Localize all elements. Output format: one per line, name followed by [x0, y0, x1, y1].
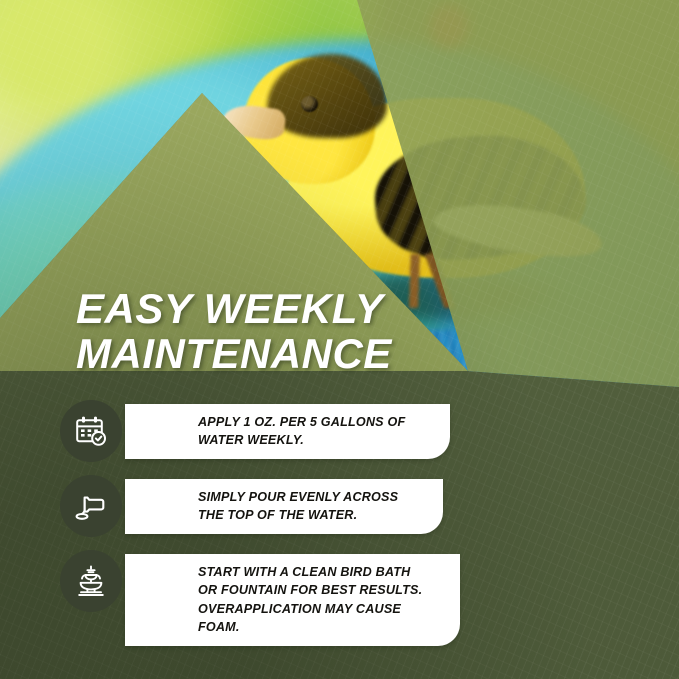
- step-text: SIMPLY POUR EVENLY ACROSS THE TOP OF THE…: [198, 488, 398, 525]
- list-item: APPLY 1 OZ. PER 5 GALLONS OF WATER WEEKL…: [60, 400, 480, 462]
- step-icon-badge: [60, 400, 122, 462]
- headline-line-1: EASY WEEKLY: [76, 285, 383, 332]
- fountain-icon: [74, 564, 108, 598]
- calendar-check-icon: [74, 414, 108, 448]
- page-title: EASY WEEKLY MAINTENANCE: [76, 286, 496, 377]
- instruction-steps-list: APPLY 1 OZ. PER 5 GALLONS OF WATER WEEKL…: [60, 400, 480, 625]
- bird-eye: [301, 96, 318, 112]
- headline-line-2: MAINTENANCE: [76, 331, 496, 376]
- pouring-bottle-icon: [74, 489, 108, 523]
- step-icon-badge: [60, 475, 122, 537]
- step-pill: START WITH A CLEAN BIRD BATH OR FOUNTAIN…: [125, 554, 460, 646]
- list-item: START WITH A CLEAN BIRD BATH OR FOUNTAIN…: [60, 550, 480, 612]
- step-pill: SIMPLY POUR EVENLY ACROSS THE TOP OF THE…: [125, 479, 443, 534]
- step-text: APPLY 1 OZ. PER 5 GALLONS OF WATER WEEKL…: [198, 413, 405, 450]
- step-icon-badge: [60, 550, 122, 612]
- step-text: START WITH A CLEAN BIRD BATH OR FOUNTAIN…: [198, 563, 444, 637]
- step-pill: APPLY 1 OZ. PER 5 GALLONS OF WATER WEEKL…: [125, 404, 450, 459]
- product-lifestyle-poster: EASY WEEKLY MAINTENANCE APPLY 1 OZ. PER …: [0, 0, 679, 679]
- list-item: SIMPLY POUR EVENLY ACROSS THE TOP OF THE…: [60, 475, 480, 537]
